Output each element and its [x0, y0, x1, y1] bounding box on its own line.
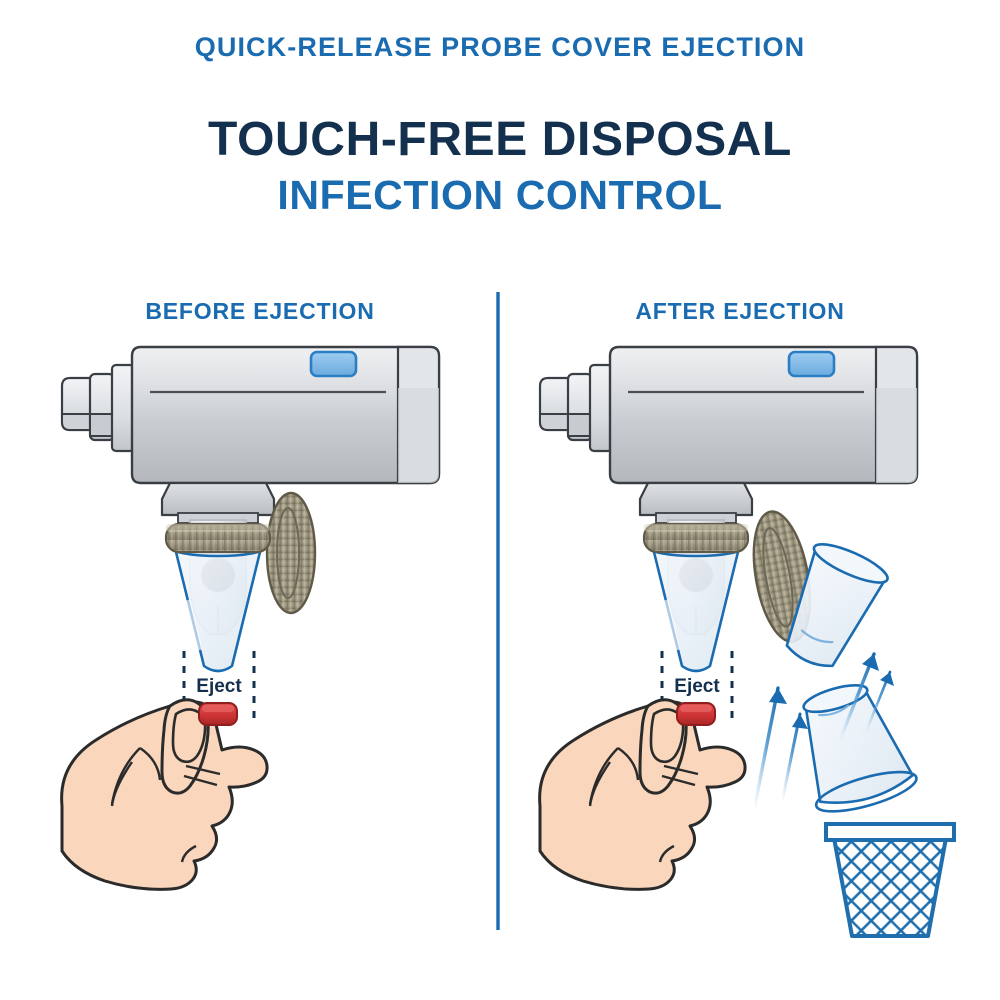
thermometer-device-icon: [62, 347, 439, 523]
mesh-waste-bin-icon: [820, 824, 970, 950]
knurled-collar-wheel-icon[interactable]: [166, 524, 270, 552]
thermometer-device-icon: [540, 347, 917, 523]
red-eject-button-icon[interactable]: [677, 703, 715, 725]
eject-label-before: Eject: [196, 676, 242, 697]
infographic-canvas: QUICK-RELEASE PROBE COVER EJECTION TOUCH…: [0, 0, 1000, 1000]
red-eject-button-icon[interactable]: [199, 703, 237, 725]
ejected-probe-cover-icon: [787, 674, 921, 820]
hand-pressing-icon: [540, 700, 745, 890]
panel-before-illustration: [62, 347, 439, 889]
hand-pressing-icon: [62, 700, 267, 890]
knurled-collar-wheel-icon[interactable]: [644, 524, 748, 552]
eject-label-after: Eject: [674, 676, 720, 697]
illustration-layer: Eject Eject: [0, 0, 1000, 1000]
knurled-wheel-icon[interactable]: [267, 493, 315, 613]
